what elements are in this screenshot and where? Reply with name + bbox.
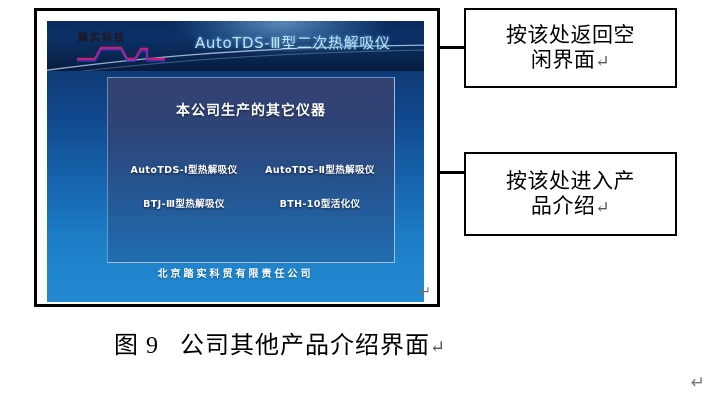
product-list: AutoTDS-Ⅰ型热解吸仪 AutoTDS-Ⅱ型热解吸仪 BTJ-Ⅲ型热解吸仪… xyxy=(116,162,388,230)
callout-2-line-2: 品介绍 xyxy=(531,194,596,218)
figure-caption-return-mark: ↵ xyxy=(430,337,446,357)
callout-text-2: 按该处进入产 品介绍↵ xyxy=(506,169,635,219)
product-row: AutoTDS-Ⅰ型热解吸仪 AutoTDS-Ⅱ型热解吸仪 xyxy=(116,162,388,176)
product-item-btj-3[interactable]: BTJ-Ⅲ型热解吸仪 xyxy=(116,196,252,210)
screenshot-frame: 踏实科技 AutoTDS-Ⅲ型二次热解吸仪 本公司生产的其它仪器 AutoTDS… xyxy=(34,8,440,307)
product-item-autotds-2[interactable]: AutoTDS-Ⅱ型热解吸仪 xyxy=(252,162,388,176)
app-return-mark: ↵ xyxy=(419,284,431,300)
app-title: AutoTDS-Ⅲ型二次热解吸仪 xyxy=(195,32,390,53)
product-item-bth-10[interactable]: BTH-10型活化仪 xyxy=(252,196,388,210)
leader-line-to-callout-2 xyxy=(437,171,466,174)
callout-1-return-mark: ↵ xyxy=(595,52,610,71)
figure-caption-label: 图 9 xyxy=(114,333,159,359)
app-header: 踏实科技 AutoTDS-Ⅲ型二次热解吸仪 xyxy=(47,21,424,71)
callout-box-enter-product-intro: 按该处进入产 品介绍↵ xyxy=(464,152,677,236)
callout-2-line-1: 按该处进入产 xyxy=(506,169,635,193)
figure-caption-title: 公司其他产品介绍界面 xyxy=(180,333,430,359)
callout-2-return-mark: ↵ xyxy=(595,198,610,217)
company-logo: 踏实科技 xyxy=(75,29,167,65)
leader-line-to-callout-1 xyxy=(437,46,466,49)
company-footer: 北京踏实科贸有限责任公司 xyxy=(47,265,424,280)
figure-caption: 图 9 公司其他产品介绍界面↵ xyxy=(0,325,560,360)
content-panel: 本公司生产的其它仪器 AutoTDS-Ⅰ型热解吸仪 AutoTDS-Ⅱ型热解吸仪… xyxy=(107,77,395,263)
product-row: BTJ-Ⅲ型热解吸仪 BTH-10型活化仪 xyxy=(116,196,388,210)
callout-text-1: 按该处返回空 闲界面↵ xyxy=(506,23,635,73)
product-item-autotds-1[interactable]: AutoTDS-Ⅰ型热解吸仪 xyxy=(116,162,252,176)
callout-1-line-2: 闲界面 xyxy=(531,48,596,72)
panel-title: 本公司生产的其它仪器 xyxy=(108,100,394,120)
waveform-logo-icon xyxy=(75,42,167,64)
callout-1-line-1: 按该处返回空 xyxy=(506,23,635,47)
callout-box-return-to-idle: 按该处返回空 闲界面↵ xyxy=(464,8,677,88)
app-window: 踏实科技 AutoTDS-Ⅲ型二次热解吸仪 本公司生产的其它仪器 AutoTDS… xyxy=(47,21,424,302)
page-return-mark: ↵ xyxy=(691,373,705,393)
